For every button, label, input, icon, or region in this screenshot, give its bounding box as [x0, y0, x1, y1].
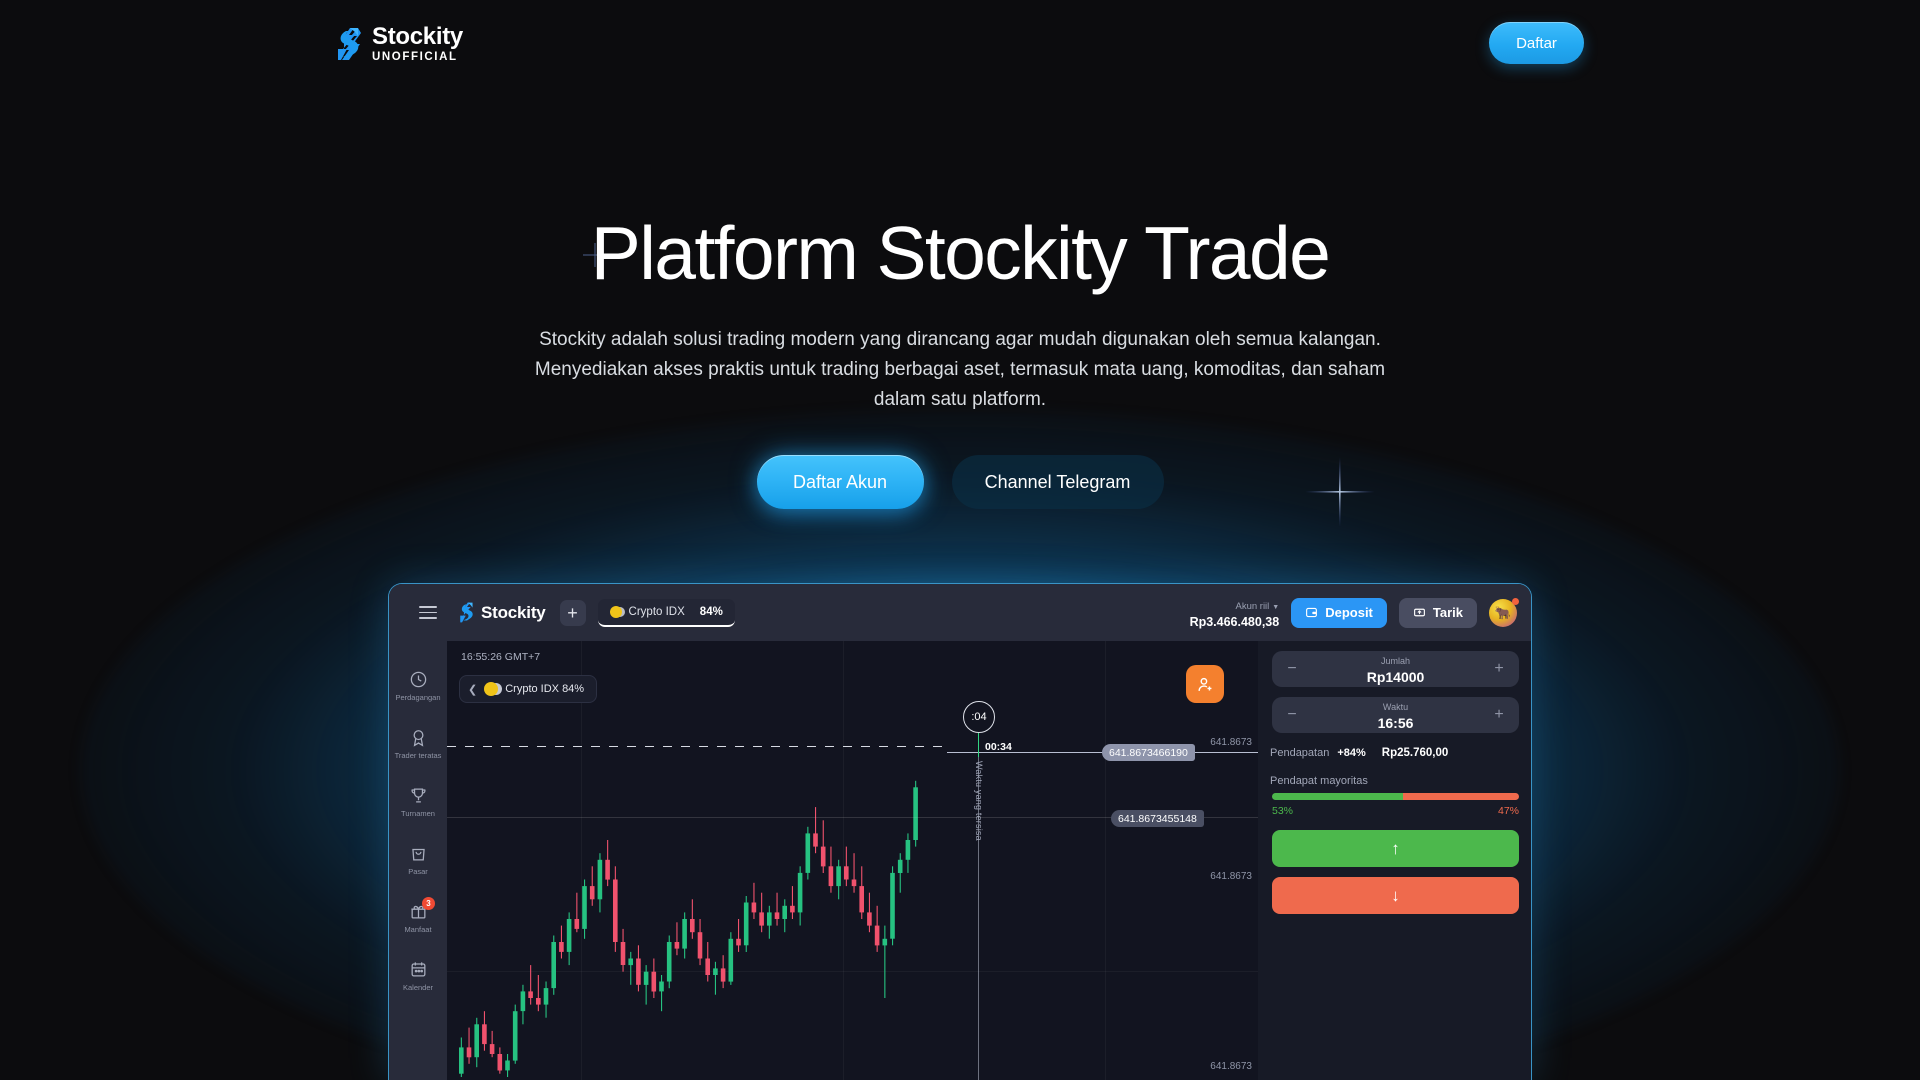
withdraw-label: Tarik	[1433, 605, 1463, 620]
app-topbar: Stockity + Crypto IDX 84% Akun riil▼ Rp3…	[389, 584, 1532, 641]
axis-tick-bottom: 641.8673	[1210, 1061, 1252, 1072]
brand-logo[interactable]: Stockity UNOFFICIAL	[336, 25, 463, 64]
add-asset-button[interactable]: +	[560, 600, 586, 626]
sentiment-bar	[1272, 793, 1519, 800]
bag-icon	[409, 844, 428, 863]
cta-row: Daftar Akun Channel Telegram	[0, 455, 1920, 509]
sentiment-label: Pendapat mayoritas	[1270, 775, 1532, 787]
account-selector[interactable]: Akun riil▼ Rp3.466.480,38	[1190, 595, 1280, 631]
site-header: Stockity UNOFFICIAL Daftar	[0, 0, 1920, 96]
axis-tick-top: 641.8673	[1210, 737, 1252, 748]
sidebar-item-trader-teratas[interactable]: Trader teratas	[389, 715, 447, 773]
sidebar-item-pasar[interactable]: Pasar	[389, 831, 447, 889]
asset-tab-label: Crypto IDX	[629, 606, 685, 618]
current-price-tag: 641.8673466190	[1102, 744, 1195, 761]
axis-tick-mid: 641.8673	[1210, 871, 1252, 882]
add-person-icon-button[interactable]	[1186, 665, 1224, 703]
wallet-icon	[1305, 606, 1318, 619]
hero-subtitle: Stockity adalah solusi trading modern ya…	[520, 325, 1400, 415]
signup-button[interactable]: Daftar	[1489, 22, 1584, 64]
landing-page: Stockity UNOFFICIAL Daftar Platform Stoc…	[0, 0, 1920, 1080]
sidebar-label: Turnamen	[401, 809, 435, 818]
price-chart[interactable]: 16:55:26 GMT+7 ❮ Crypto IDX 84% :04 00:3…	[447, 641, 1258, 1080]
deposit-button[interactable]: Deposit	[1291, 598, 1387, 628]
medal-icon	[409, 728, 428, 747]
clock-icon	[409, 670, 428, 689]
amount-decrease-button[interactable]: −	[1284, 660, 1300, 678]
payout-label: Pendapatan	[1270, 747, 1329, 759]
add-person-icon	[1196, 675, 1215, 694]
sidebar-item-perdagangan[interactable]: Perdagangan	[389, 657, 447, 715]
server-time: 16:55:26 GMT+7	[461, 651, 540, 663]
app-brand-logo[interactable]: Stockity	[459, 602, 546, 623]
payout-amount: Rp25.760,00	[1382, 747, 1449, 759]
remaining-time-label: Waktu yang tersisa	[974, 761, 984, 841]
buy-up-button[interactable]: ↑	[1272, 830, 1519, 867]
amount-value: Rp14000	[1367, 669, 1425, 685]
candlestick-series	[447, 641, 1258, 1080]
crypto-coin-icon	[484, 682, 498, 696]
sentiment-values: 53% 47%	[1272, 805, 1519, 817]
trophy-icon	[409, 786, 428, 805]
stockity-arrow-logo-icon	[336, 27, 362, 61]
countdown-label: 00:34	[985, 741, 1012, 753]
app-mockup: Stockity + Crypto IDX 84% Akun riil▼ Rp3…	[388, 583, 1532, 1080]
amount-label: Jumlah	[1381, 656, 1410, 666]
telegram-channel-button[interactable]: Channel Telegram	[952, 455, 1164, 509]
chevron-left-icon: ❮	[468, 683, 477, 696]
payout-row: Pendapatan +84% Rp25.760,00	[1270, 747, 1532, 759]
manfaat-badge: 3	[422, 897, 435, 910]
page-title: Platform Stockity Trade	[0, 210, 1920, 296]
sidebar-label: Pasar	[408, 867, 428, 876]
app-logo-name: Stockity	[481, 603, 546, 623]
app-sidebar: Perdagangan Trader teratas Turnamen Pasa…	[389, 641, 447, 1080]
chart-asset-selector[interactable]: ❮ Crypto IDX 84%	[459, 675, 597, 703]
withdraw-icon	[1413, 606, 1426, 619]
hamburger-icon[interactable]	[419, 606, 437, 619]
time-label: Waktu	[1383, 702, 1408, 712]
sidebar-label: Manfaat	[404, 925, 431, 934]
sidebar-label: Kalender	[403, 983, 433, 992]
trade-panel: − Jumlah Rp14000 + − Waktu 16:56 + Penda…	[1258, 641, 1532, 1080]
expiry-timer-badge: :04	[963, 701, 995, 733]
sidebar-item-manfaat[interactable]: 3 Manfaat	[389, 889, 447, 947]
sentiment-up-value: 53%	[1272, 805, 1293, 817]
logo-subtitle: UNOFFICIAL	[372, 52, 463, 64]
time-decrease-button[interactable]: −	[1284, 706, 1300, 724]
sell-down-button[interactable]: ↓	[1272, 877, 1519, 914]
asset-tab-percent: 84%	[700, 606, 723, 618]
chevron-down-icon: ▼	[1272, 604, 1279, 611]
secondary-price-tag: 641.8673455148	[1111, 810, 1204, 827]
payout-percent: +84%	[1337, 747, 1365, 759]
sentiment-down-value: 47%	[1498, 805, 1519, 817]
account-balance: Rp3.466.480,38	[1190, 615, 1280, 631]
crypto-coin-icon	[610, 606, 622, 618]
stockity-arrow-logo-icon	[459, 602, 475, 623]
asset-tab-crypto-idx[interactable]: Crypto IDX 84%	[598, 599, 735, 627]
logo-name: Stockity	[372, 25, 463, 49]
account-type-label: Akun riil	[1235, 601, 1269, 612]
chart-asset-label: Crypto IDX 84%	[505, 683, 584, 695]
time-stepper[interactable]: − Waktu 16:56 +	[1272, 697, 1519, 733]
arrow-up-icon: ↑	[1391, 840, 1400, 857]
withdraw-button[interactable]: Tarik	[1399, 598, 1477, 628]
bull-avatar[interactable]: 🐂	[1489, 599, 1517, 627]
time-increase-button[interactable]: +	[1491, 706, 1507, 724]
amount-stepper[interactable]: − Jumlah Rp14000 +	[1272, 651, 1519, 687]
calendar-icon	[409, 960, 428, 979]
arrow-down-icon: ↓	[1391, 887, 1400, 904]
deposit-label: Deposit	[1325, 605, 1373, 620]
time-value: 16:56	[1378, 715, 1414, 731]
register-account-button[interactable]: Daftar Akun	[757, 455, 924, 509]
strike-price-line	[447, 746, 947, 747]
sidebar-label: Trader teratas	[395, 751, 442, 760]
sidebar-item-turnamen[interactable]: Turnamen	[389, 773, 447, 831]
amount-increase-button[interactable]: +	[1491, 660, 1507, 678]
sidebar-item-kalender[interactable]: Kalender	[389, 947, 447, 1005]
sidebar-label: Perdagangan	[395, 693, 440, 702]
